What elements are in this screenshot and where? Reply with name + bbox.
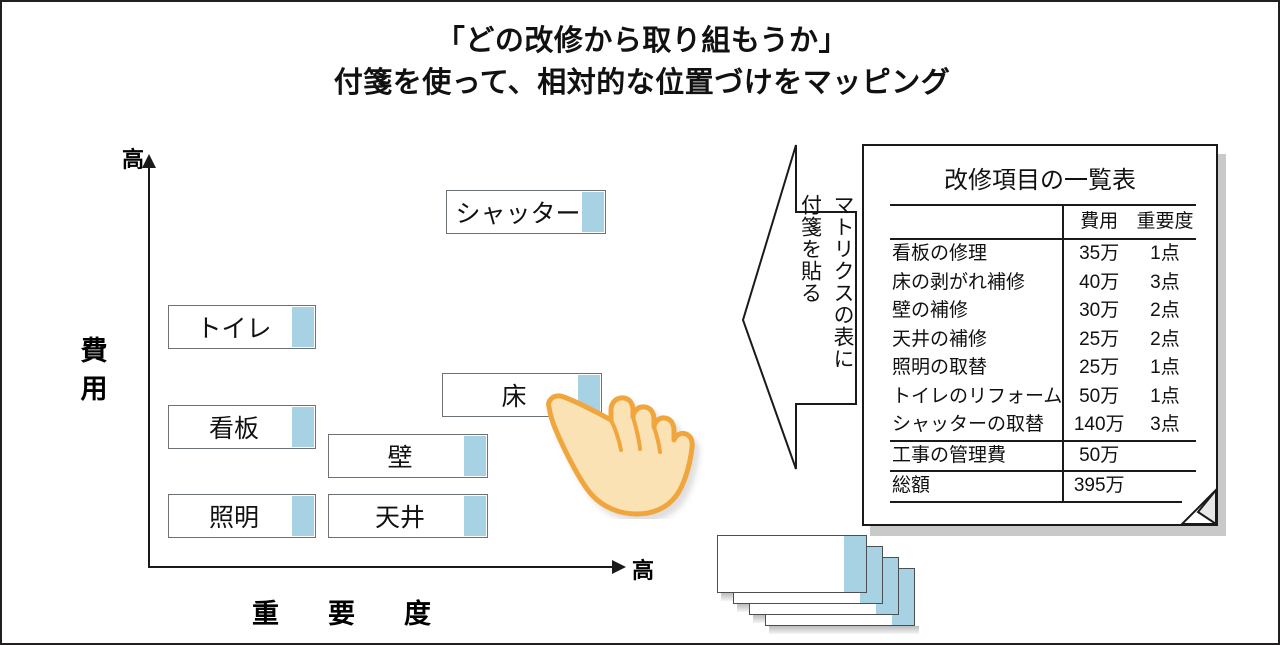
- table-cell-score: 1点: [1134, 239, 1196, 268]
- col-header-item: [890, 205, 1063, 239]
- sticky-note-3[interactable]: 看板: [168, 405, 316, 449]
- table-cell-cost: 25万: [1063, 354, 1133, 382]
- table-cell-score: 3点: [1134, 411, 1196, 440]
- table-cell-cost: 30万: [1063, 297, 1133, 325]
- table-summary-cell-cost: 50万: [1063, 441, 1133, 471]
- table-cell-score: 1点: [1134, 354, 1196, 382]
- y-axis-high-label: 高: [122, 142, 144, 174]
- table-cell-cost: 40万: [1063, 269, 1133, 297]
- table-cell-item: 床の剥がれ補修: [890, 269, 1063, 297]
- table-row: シャッターの取替140万3点: [890, 411, 1196, 440]
- hand-pointing-icon: [545, 384, 705, 519]
- table-row: 天井の補修25万2点: [890, 326, 1196, 354]
- sticky-note-1[interactable]: トイレ: [168, 305, 316, 349]
- callout-line-2: 付箋を貼る: [793, 194, 826, 304]
- table-cell-item: 壁の補修: [890, 297, 1063, 325]
- table-cell-cost: 25万: [1063, 326, 1133, 354]
- sticky-note-4[interactable]: 壁: [328, 434, 488, 478]
- table-summary-cell-score: [1134, 441, 1196, 471]
- title-line-1: 「どの改修から取り組もうか」: [2, 20, 1280, 62]
- y-axis-arrowhead-icon: [142, 154, 156, 168]
- table-cell-score: 2点: [1134, 297, 1196, 325]
- sticky-note-tab: [292, 307, 314, 347]
- table-cell-item: トイレのリフォーム: [890, 383, 1063, 411]
- y-axis-title: 費用: [74, 332, 114, 409]
- table-row: 照明の取替25万1点: [890, 354, 1196, 382]
- table-cell-item: 照明の取替: [890, 354, 1063, 382]
- x-axis-arrowhead-icon: [612, 560, 626, 574]
- blank-note-stack: [717, 535, 937, 625]
- table-summary-cell-item: 総額: [890, 471, 1063, 501]
- col-header-score: 重要度: [1134, 205, 1196, 239]
- arrow-callout-text: マトリクスの表に 付箋を貼る: [740, 152, 858, 462]
- table-cell-cost: 35万: [1063, 239, 1133, 268]
- table-cell-cost: 140万: [1063, 411, 1133, 440]
- reference-table: 費用重要度看板の修理35万1点床の剥がれ補修40万3点壁の補修30万2点天井の補…: [890, 204, 1196, 503]
- blank-note-shadow: [769, 626, 919, 634]
- table-row: 床の剥がれ補修40万3点: [890, 269, 1196, 297]
- table-row: 看板の修理35万1点: [890, 239, 1196, 268]
- table-row: トイレのリフォーム50万1点: [890, 383, 1196, 411]
- blank-sticky-note-4[interactable]: [717, 535, 867, 593]
- table-header-row: 費用重要度: [890, 205, 1196, 239]
- y-axis-line: [148, 164, 150, 568]
- sticky-note-6[interactable]: 天井: [328, 494, 488, 538]
- table-cell-score: 1点: [1134, 383, 1196, 411]
- sticky-note-0[interactable]: シャッター: [446, 190, 606, 234]
- page-title: 「どの改修から取り組もうか」 付箋を使って、相対的な位置づけをマッピング: [2, 20, 1280, 104]
- table-summary-row: 総額395万: [890, 471, 1196, 501]
- table-row: 壁の補修30万2点: [890, 297, 1196, 325]
- table-cell-item: シャッターの取替: [890, 411, 1063, 440]
- table-summary-cell-item: 工事の管理費: [890, 441, 1063, 471]
- sticky-note-5[interactable]: 照明: [168, 494, 316, 538]
- table-cell-cost: 50万: [1063, 383, 1133, 411]
- table-cell-item: 看板の修理: [890, 239, 1063, 268]
- callout-line-1: マトリクスの表に: [825, 194, 858, 370]
- x-axis-title: 重 要 度: [252, 592, 442, 631]
- card-title: 改修項目の一覧表: [864, 160, 1216, 195]
- sticky-note-tab: [292, 496, 314, 536]
- sticky-note-tab: [582, 192, 604, 232]
- sticky-note-tab: [464, 436, 486, 476]
- reference-table-card: 改修項目の一覧表 費用重要度看板の修理35万1点床の剥がれ補修40万3点壁の補修…: [862, 144, 1218, 526]
- table-cell-score: 3点: [1134, 269, 1196, 297]
- table-cell-item: 天井の補修: [890, 326, 1063, 354]
- title-line-2: 付箋を使って、相対的な位置づけをマッピング: [2, 62, 1280, 104]
- x-axis-line: [148, 566, 614, 568]
- x-axis-high-label: 高: [632, 553, 654, 585]
- table-summary-cell-cost: 395万: [1063, 471, 1133, 501]
- table-cell-score: 2点: [1134, 326, 1196, 354]
- sticky-note-tab: [292, 407, 314, 447]
- table-summary-row: 工事の管理費50万: [890, 441, 1196, 471]
- blank-note-tab: [844, 536, 866, 592]
- sticky-note-tab: [464, 496, 486, 536]
- page-fold-icon: [1182, 490, 1216, 524]
- slide-canvas: 「どの改修から取り組もうか」 付箋を使って、相対的な位置づけをマッピング 高 高…: [0, 0, 1280, 645]
- col-header-cost: 費用: [1063, 205, 1133, 239]
